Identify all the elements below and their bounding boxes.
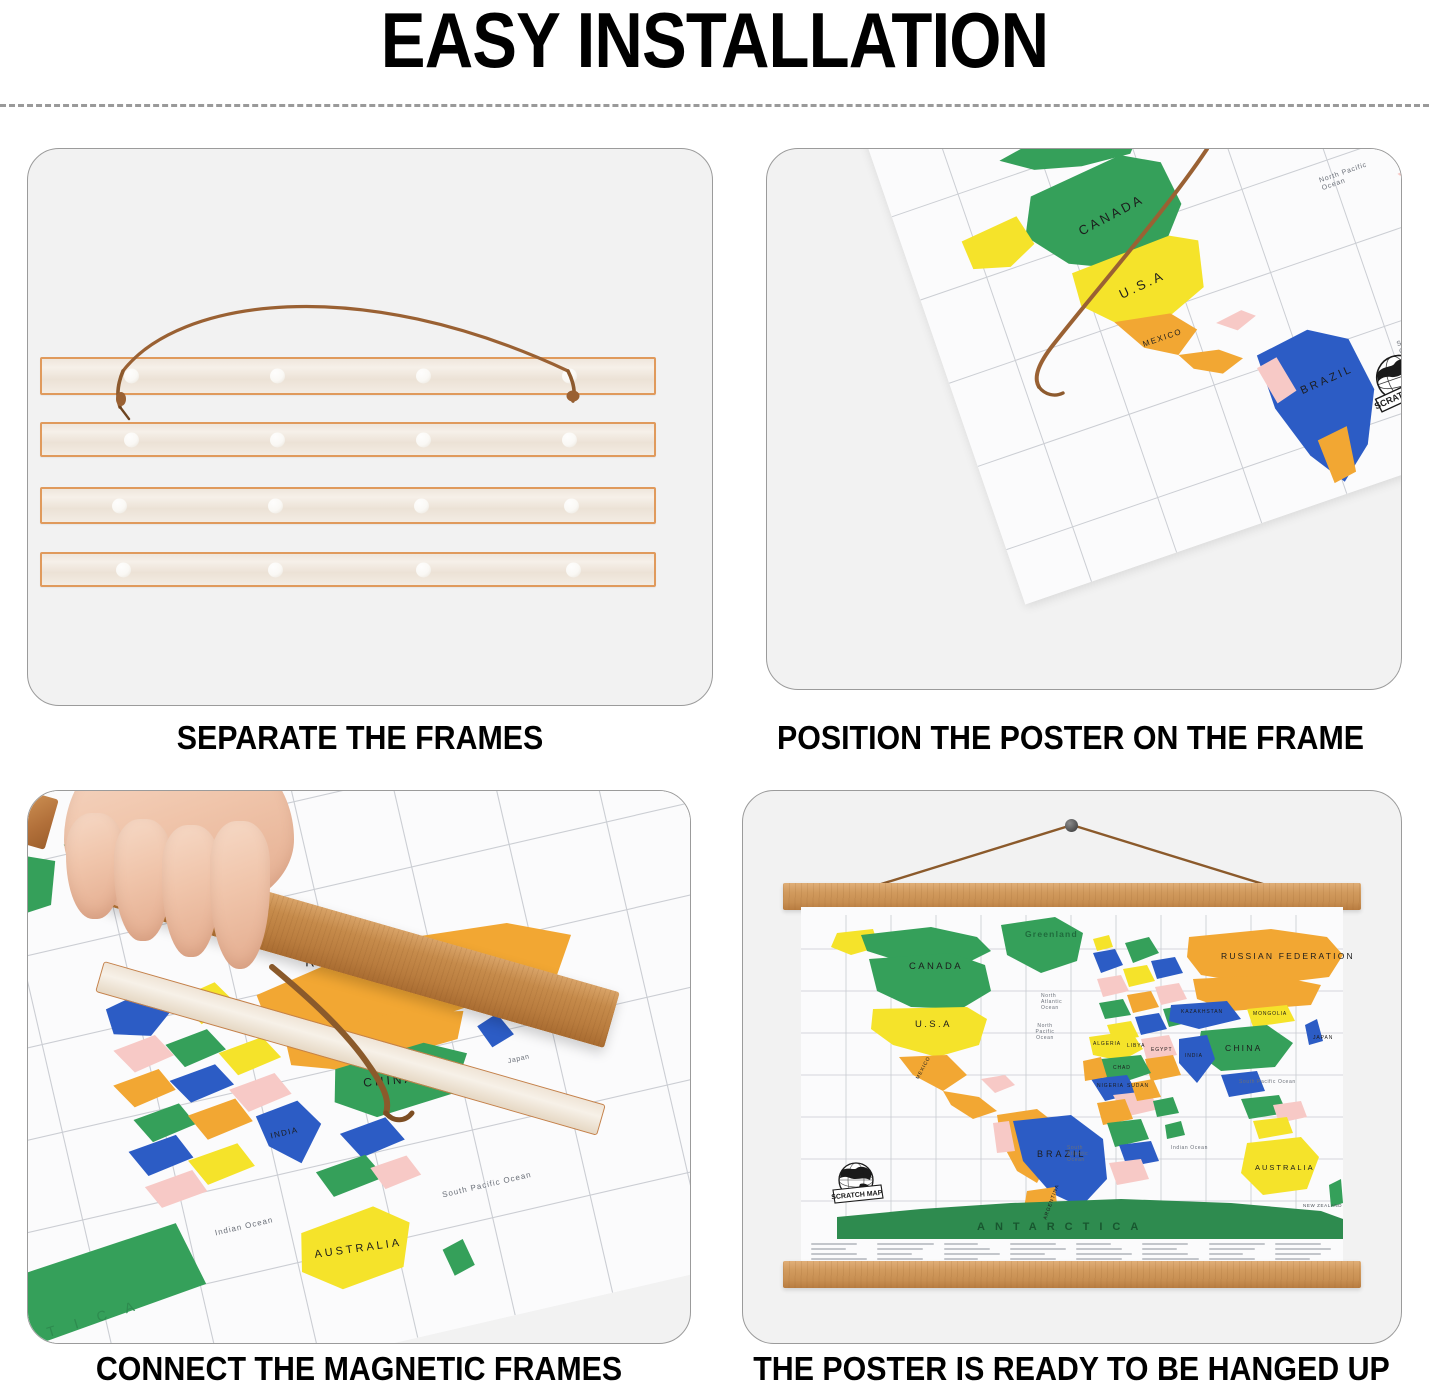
- magnetic-frame-connection-scene: CANADA U.S.A Greenland RUSSIAN FEDERATIO…: [28, 791, 690, 1343]
- wall-nail: [1065, 819, 1078, 832]
- world-map-graphic: [801, 907, 1343, 1267]
- panel-separate-the-frames: [27, 148, 713, 706]
- caption-position-the-poster: POSITION THE POSTER ON THE FRAME: [741, 720, 1401, 756]
- hanging-cord: [28, 149, 712, 705]
- panel-poster-ready-to-hang: Greenland CANADA U.S.A MEXICO BRAZIL ARG…: [742, 790, 1402, 1344]
- page-title: EASY INSTALLATION: [100, 0, 1329, 84]
- poster-positioning-scene: Greenland CANADA U.S.A MEXICO RUSSIAN FE…: [767, 149, 1401, 689]
- caption-poster-ready-to-hang: THE POSTER IS READY TO BE HANGED UP: [743, 1351, 1401, 1387]
- hanging-poster-scene: Greenland CANADA U.S.A MEXICO BRAZIL ARG…: [743, 791, 1401, 1343]
- wooden-frame-top[interactable]: [783, 883, 1361, 910]
- panel-position-the-poster: Greenland CANADA U.S.A MEXICO RUSSIAN FE…: [766, 148, 1402, 690]
- scratch-map-poster-tilted[interactable]: Greenland CANADA U.S.A MEXICO RUSSIAN FE…: [843, 148, 1402, 604]
- scratch-map-poster-complete[interactable]: Greenland CANADA U.S.A MEXICO BRAZIL ARG…: [801, 907, 1343, 1267]
- caption-connect-the-magnetic-frames: CONNECT THE MAGNETIC FRAMES: [29, 1351, 690, 1387]
- wooden-frame-bottom[interactable]: [783, 1261, 1361, 1288]
- world-map-graphic: [843, 148, 1402, 604]
- caption-separate-the-frames: SEPARATE THE FRAMES: [29, 720, 691, 756]
- panel-connect-the-magnetic-frames: CANADA U.S.A Greenland RUSSIAN FEDERATIO…: [27, 790, 691, 1344]
- scratch-map-logo: SCRATCH MAP: [829, 1159, 887, 1211]
- title-divider: [0, 104, 1429, 107]
